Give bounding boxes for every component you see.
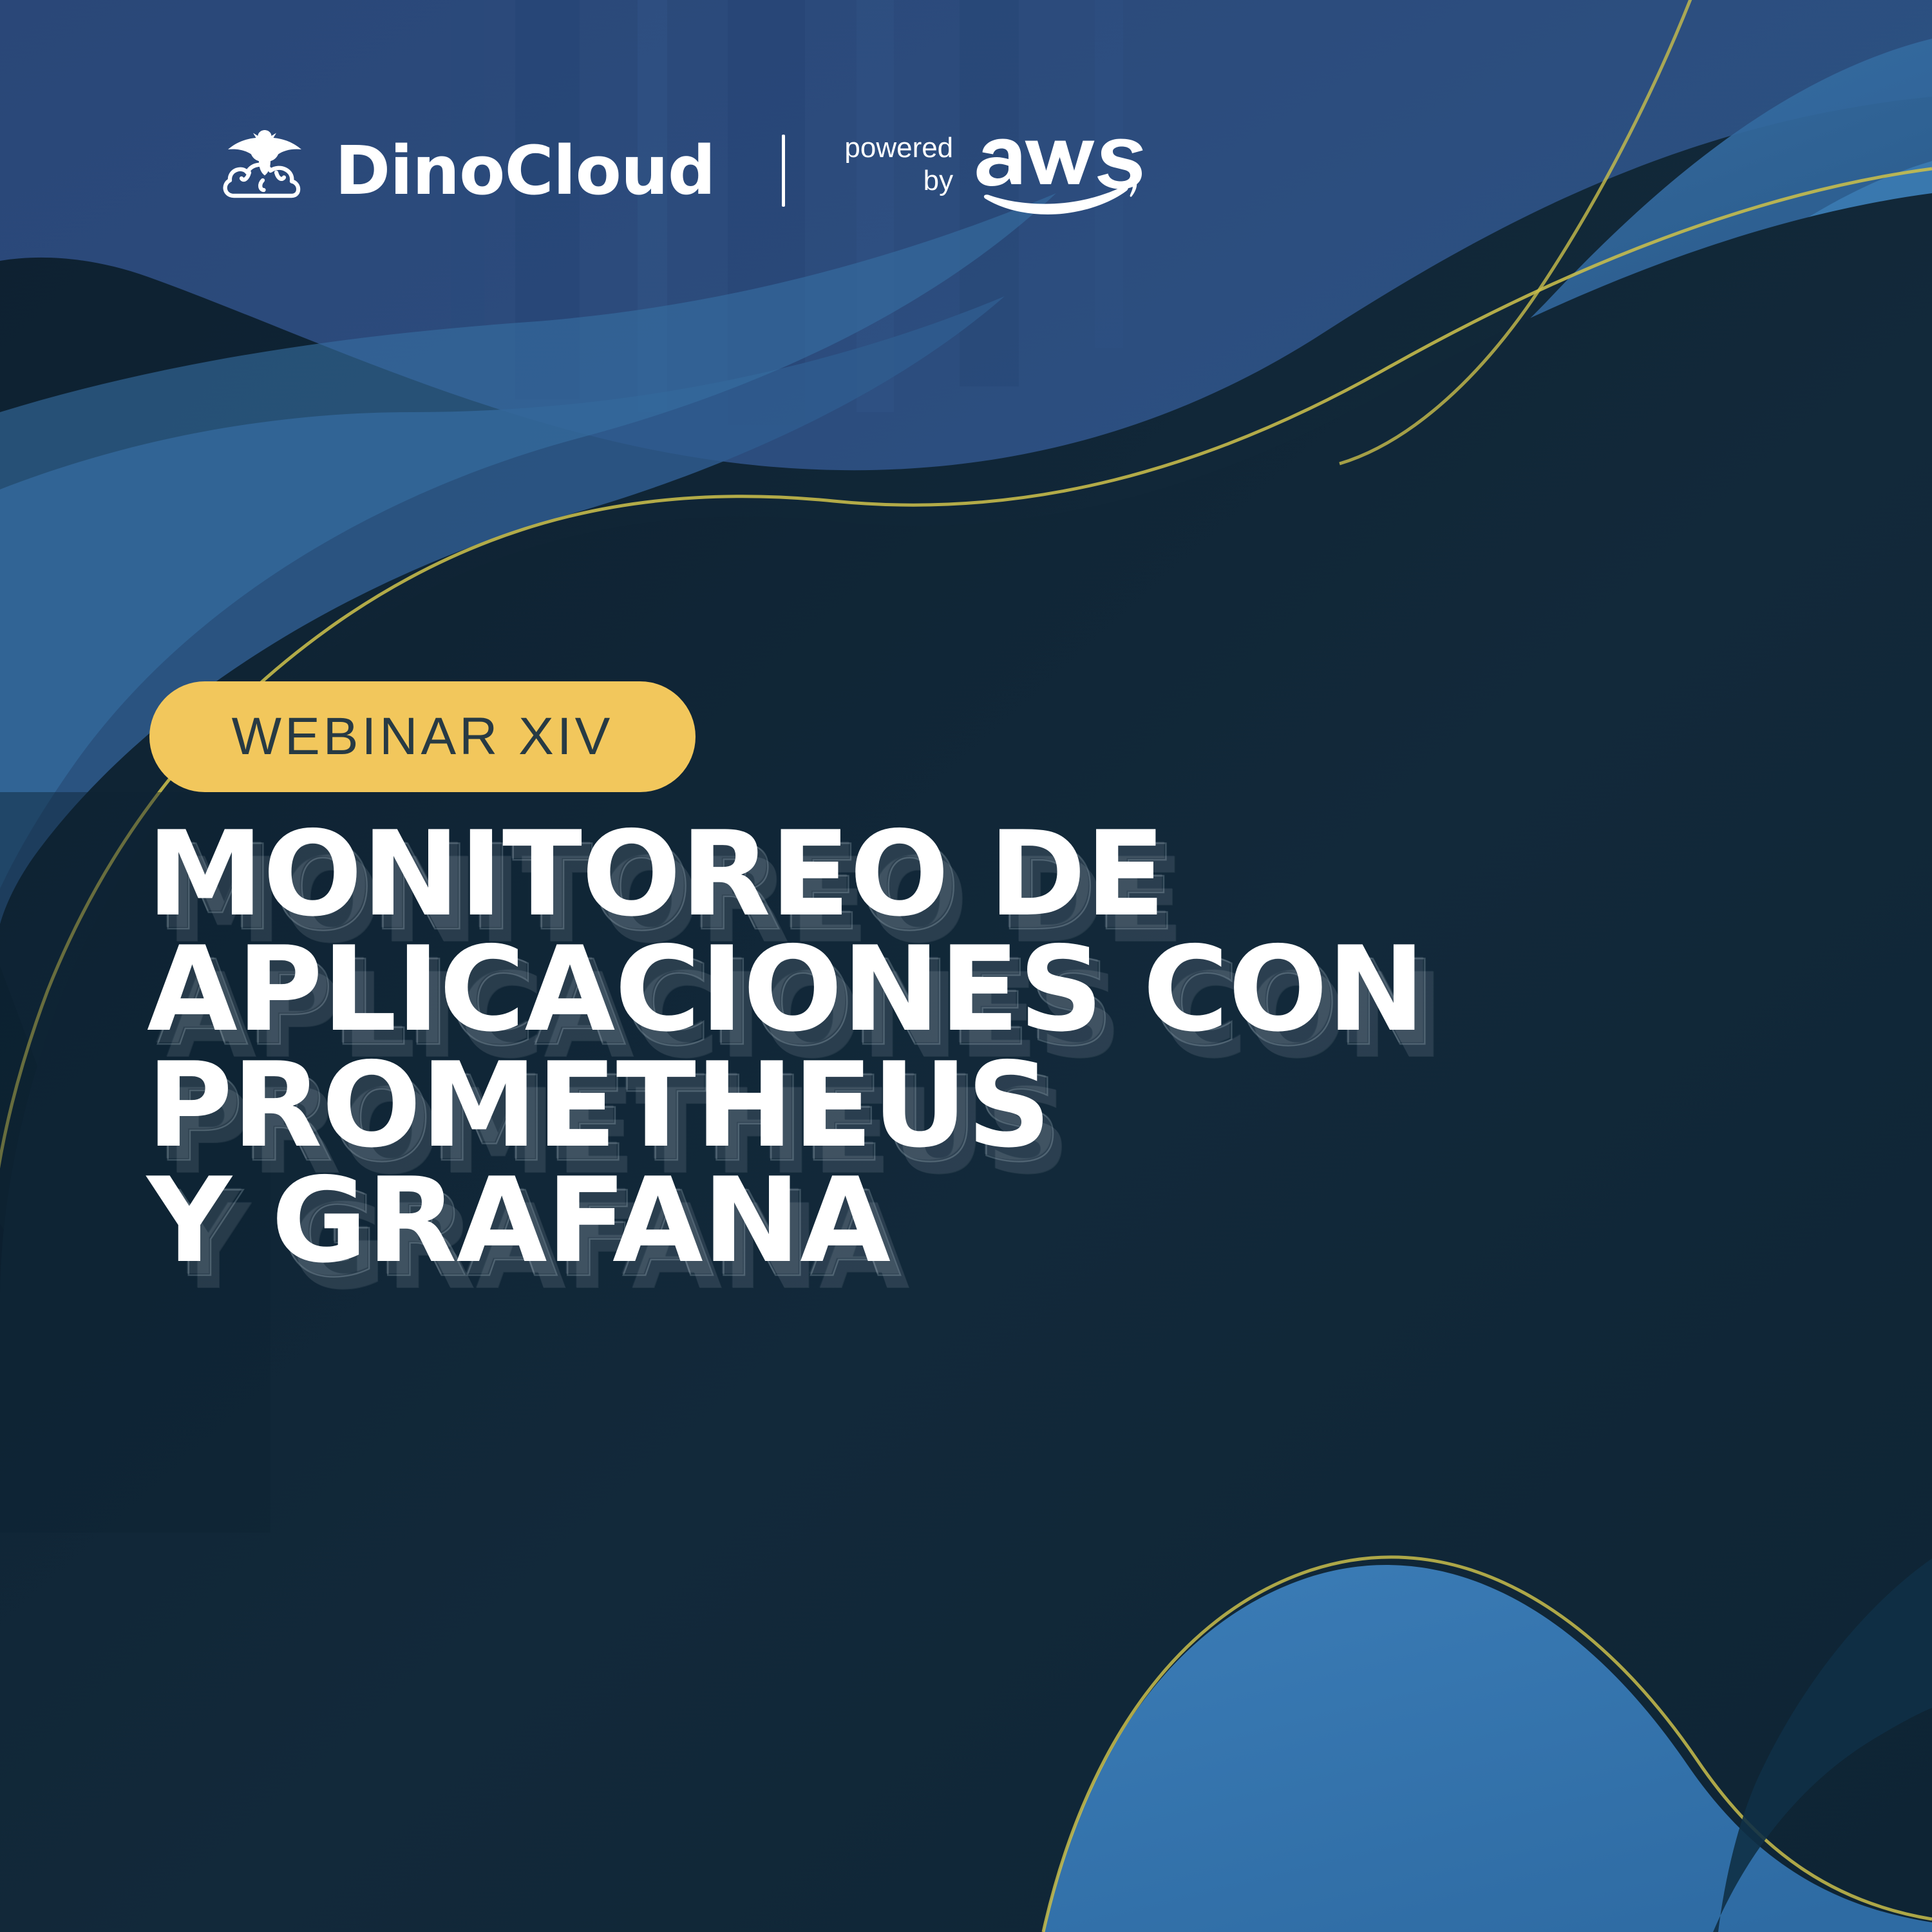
aws-by-word: by xyxy=(923,164,953,197)
aws-logo-icon xyxy=(970,122,1163,219)
aws-powered-word: powered xyxy=(844,131,953,164)
aws-powered-by-text: powered by xyxy=(844,122,953,197)
brand-header: DinoCloud powered by xyxy=(216,122,1163,219)
brand-divider xyxy=(782,135,785,207)
headline-line-4: Y GRAFANA xyxy=(147,1163,1425,1278)
headline-line-1: MONITOREO DE xyxy=(147,817,1425,932)
webinar-badge: WEBINAR XIV xyxy=(149,681,696,792)
webinar-badge-label: WEBINAR XIV xyxy=(232,706,614,767)
headline-block: MONITOREO DE APLICACIONES CON PROMETHEUS… xyxy=(147,817,1425,1278)
headline-line-3: PROMETHEUS xyxy=(147,1048,1425,1163)
webinar-promo-poster: DinoCloud powered by xyxy=(0,0,1932,1932)
aws-lockup: powered by xyxy=(844,122,1163,219)
headline-line-2: APLICACIONES CON xyxy=(147,932,1425,1047)
dinocloud-wordmark: DinoCloud xyxy=(335,137,715,204)
dinocloud-lockup: DinoCloud xyxy=(216,122,715,219)
dinocloud-dino-cloud-icon xyxy=(216,122,313,219)
